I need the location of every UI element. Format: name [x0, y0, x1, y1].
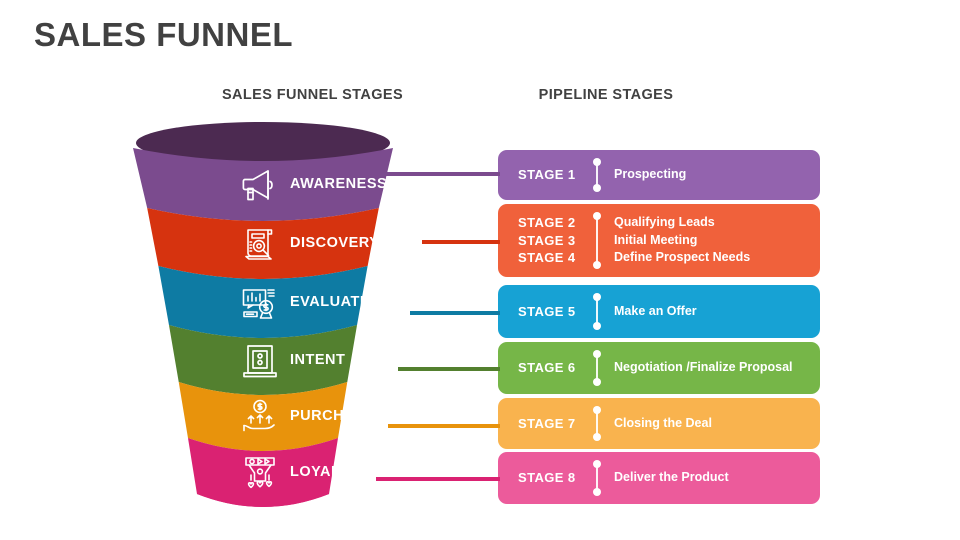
funnel-band-label-6: LOYALTY: [290, 464, 359, 480]
stage-number-column: STAGE 2STAGE 3STAGE 4: [498, 214, 590, 267]
stage-number: STAGE 2: [518, 214, 590, 232]
funnel-connector-4: [398, 367, 500, 371]
stage-number: STAGE 1: [518, 166, 590, 184]
door-icon: [240, 341, 280, 381]
hand-coin-icon: [240, 397, 280, 437]
megaphone-icon: [240, 165, 280, 205]
pipeline-stage-box-1[interactable]: STAGE 1Prospecting: [498, 150, 820, 200]
stage-number: STAGE 8: [518, 469, 590, 487]
stage-number-column: STAGE 6: [498, 359, 590, 377]
stage-separator: [590, 452, 604, 504]
funnel-band-label-1: AWARENESS: [290, 176, 387, 192]
stage-separator: [590, 342, 604, 394]
stage-description: Qualifying Leads: [614, 214, 820, 232]
stage-description-column: Deliver the Product: [604, 469, 820, 487]
stage-separator: [590, 204, 604, 277]
stage-number-column: STAGE 8: [498, 469, 590, 487]
chart-coin-icon: [240, 283, 280, 323]
funnel-column-header: SALES FUNNEL STAGES: [170, 87, 455, 103]
pipeline-stage-box-6[interactable]: STAGE 8Deliver the Product: [498, 452, 820, 504]
stage-number: STAGE 4: [518, 249, 590, 267]
stage-description: Closing the Deal: [614, 415, 820, 433]
funnel-connector-5: [388, 424, 500, 428]
slide-canvas: SALES FUNNEL SALES FUNNEL STAGES PIPELIN…: [0, 0, 960, 540]
stage-number: STAGE 3: [518, 232, 590, 250]
stage-description-column: Prospecting: [604, 166, 820, 184]
stage-description-column: Negotiation /Finalize Proposal: [604, 359, 820, 377]
pipeline-stage-box-2[interactable]: STAGE 2STAGE 3STAGE 4Qualifying LeadsIni…: [498, 204, 820, 277]
stage-number-column: STAGE 7: [498, 415, 590, 433]
stage-description: Deliver the Product: [614, 469, 820, 487]
funnel-band-label-5: PURCHASE: [290, 408, 375, 424]
funnel-band-label-4: INTENT: [290, 352, 345, 368]
pipeline-stage-box-3[interactable]: STAGE 5Make an Offer: [498, 285, 820, 338]
document-search-icon: [240, 224, 280, 264]
funnel-connector-3: [410, 311, 500, 315]
funnel-bottom-cap: [197, 494, 329, 507]
funnel-connector-1: [378, 172, 500, 176]
page-title: SALES FUNNEL: [34, 16, 293, 54]
funnel-band-label-3: EVALUATION: [290, 294, 387, 310]
pipeline-stage-box-5[interactable]: STAGE 7Closing the Deal: [498, 398, 820, 449]
stage-number-column: STAGE 5: [498, 303, 590, 321]
funnel-connector-2: [422, 240, 500, 244]
stage-description: Negotiation /Finalize Proposal: [614, 359, 820, 377]
stage-description: Make an Offer: [614, 303, 820, 321]
funnel-heart-icon: [240, 453, 280, 493]
pipeline-column-header: PIPELINE STAGES: [497, 87, 715, 103]
stage-separator: [590, 285, 604, 338]
funnel-band-label-2: DISCOVERY: [290, 235, 379, 251]
funnel-connector-6: [376, 477, 500, 481]
stage-separator: [590, 398, 604, 449]
stage-description: Initial Meeting: [614, 232, 820, 250]
stage-separator: [590, 150, 604, 200]
pipeline-stage-box-4[interactable]: STAGE 6Negotiation /Finalize Proposal: [498, 342, 820, 394]
stage-description-column: Closing the Deal: [604, 415, 820, 433]
stage-description-column: Make an Offer: [604, 303, 820, 321]
stage-number: STAGE 6: [518, 359, 590, 377]
stage-description: Prospecting: [614, 166, 820, 184]
stage-number: STAGE 7: [518, 415, 590, 433]
stage-description-column: Qualifying LeadsInitial MeetingDefine Pr…: [604, 214, 820, 267]
stage-description: Define Prospect Needs: [614, 249, 820, 267]
stage-number: STAGE 5: [518, 303, 590, 321]
stage-number-column: STAGE 1: [498, 166, 590, 184]
